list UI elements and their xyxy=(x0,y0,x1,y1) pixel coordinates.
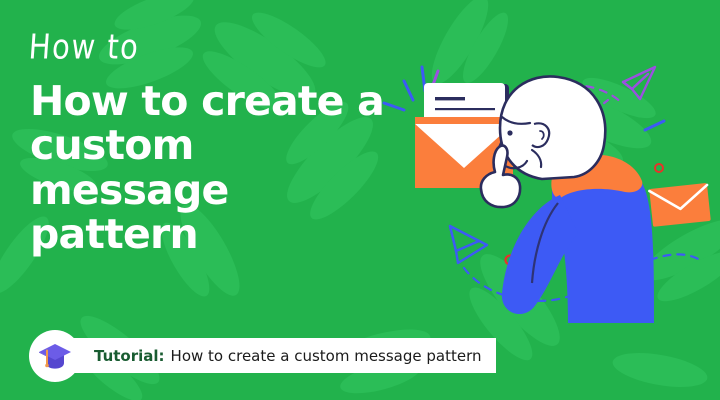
tutorial-bar: Tutorial: How to create a custom message… xyxy=(52,338,496,373)
red-circle-dot-right xyxy=(655,164,663,172)
hero-kicker: How to xyxy=(28,30,410,64)
hero-headline: How to create a custom message pattern xyxy=(30,79,390,256)
hero-text-block: How to How to create a custom message pa… xyxy=(30,30,410,256)
graduation-cap-icon xyxy=(37,341,73,371)
paper-plane-purple-icon xyxy=(623,67,655,99)
tutorial-banner: How to How to create a custom message pa… xyxy=(0,0,720,400)
tutorial-title: How to create a custom message pattern xyxy=(171,347,482,365)
paper-plane-blue-icon xyxy=(450,226,487,263)
tutorial-label: Tutorial: xyxy=(94,347,165,365)
graduation-cap-badge xyxy=(29,330,81,382)
blue-dash-accent xyxy=(645,121,664,130)
small-envelope-icon xyxy=(649,183,711,227)
person-pointing-at-email-illustration xyxy=(382,55,720,340)
person-figure xyxy=(481,76,654,323)
dashed-trail-bottom-right xyxy=(650,254,700,260)
